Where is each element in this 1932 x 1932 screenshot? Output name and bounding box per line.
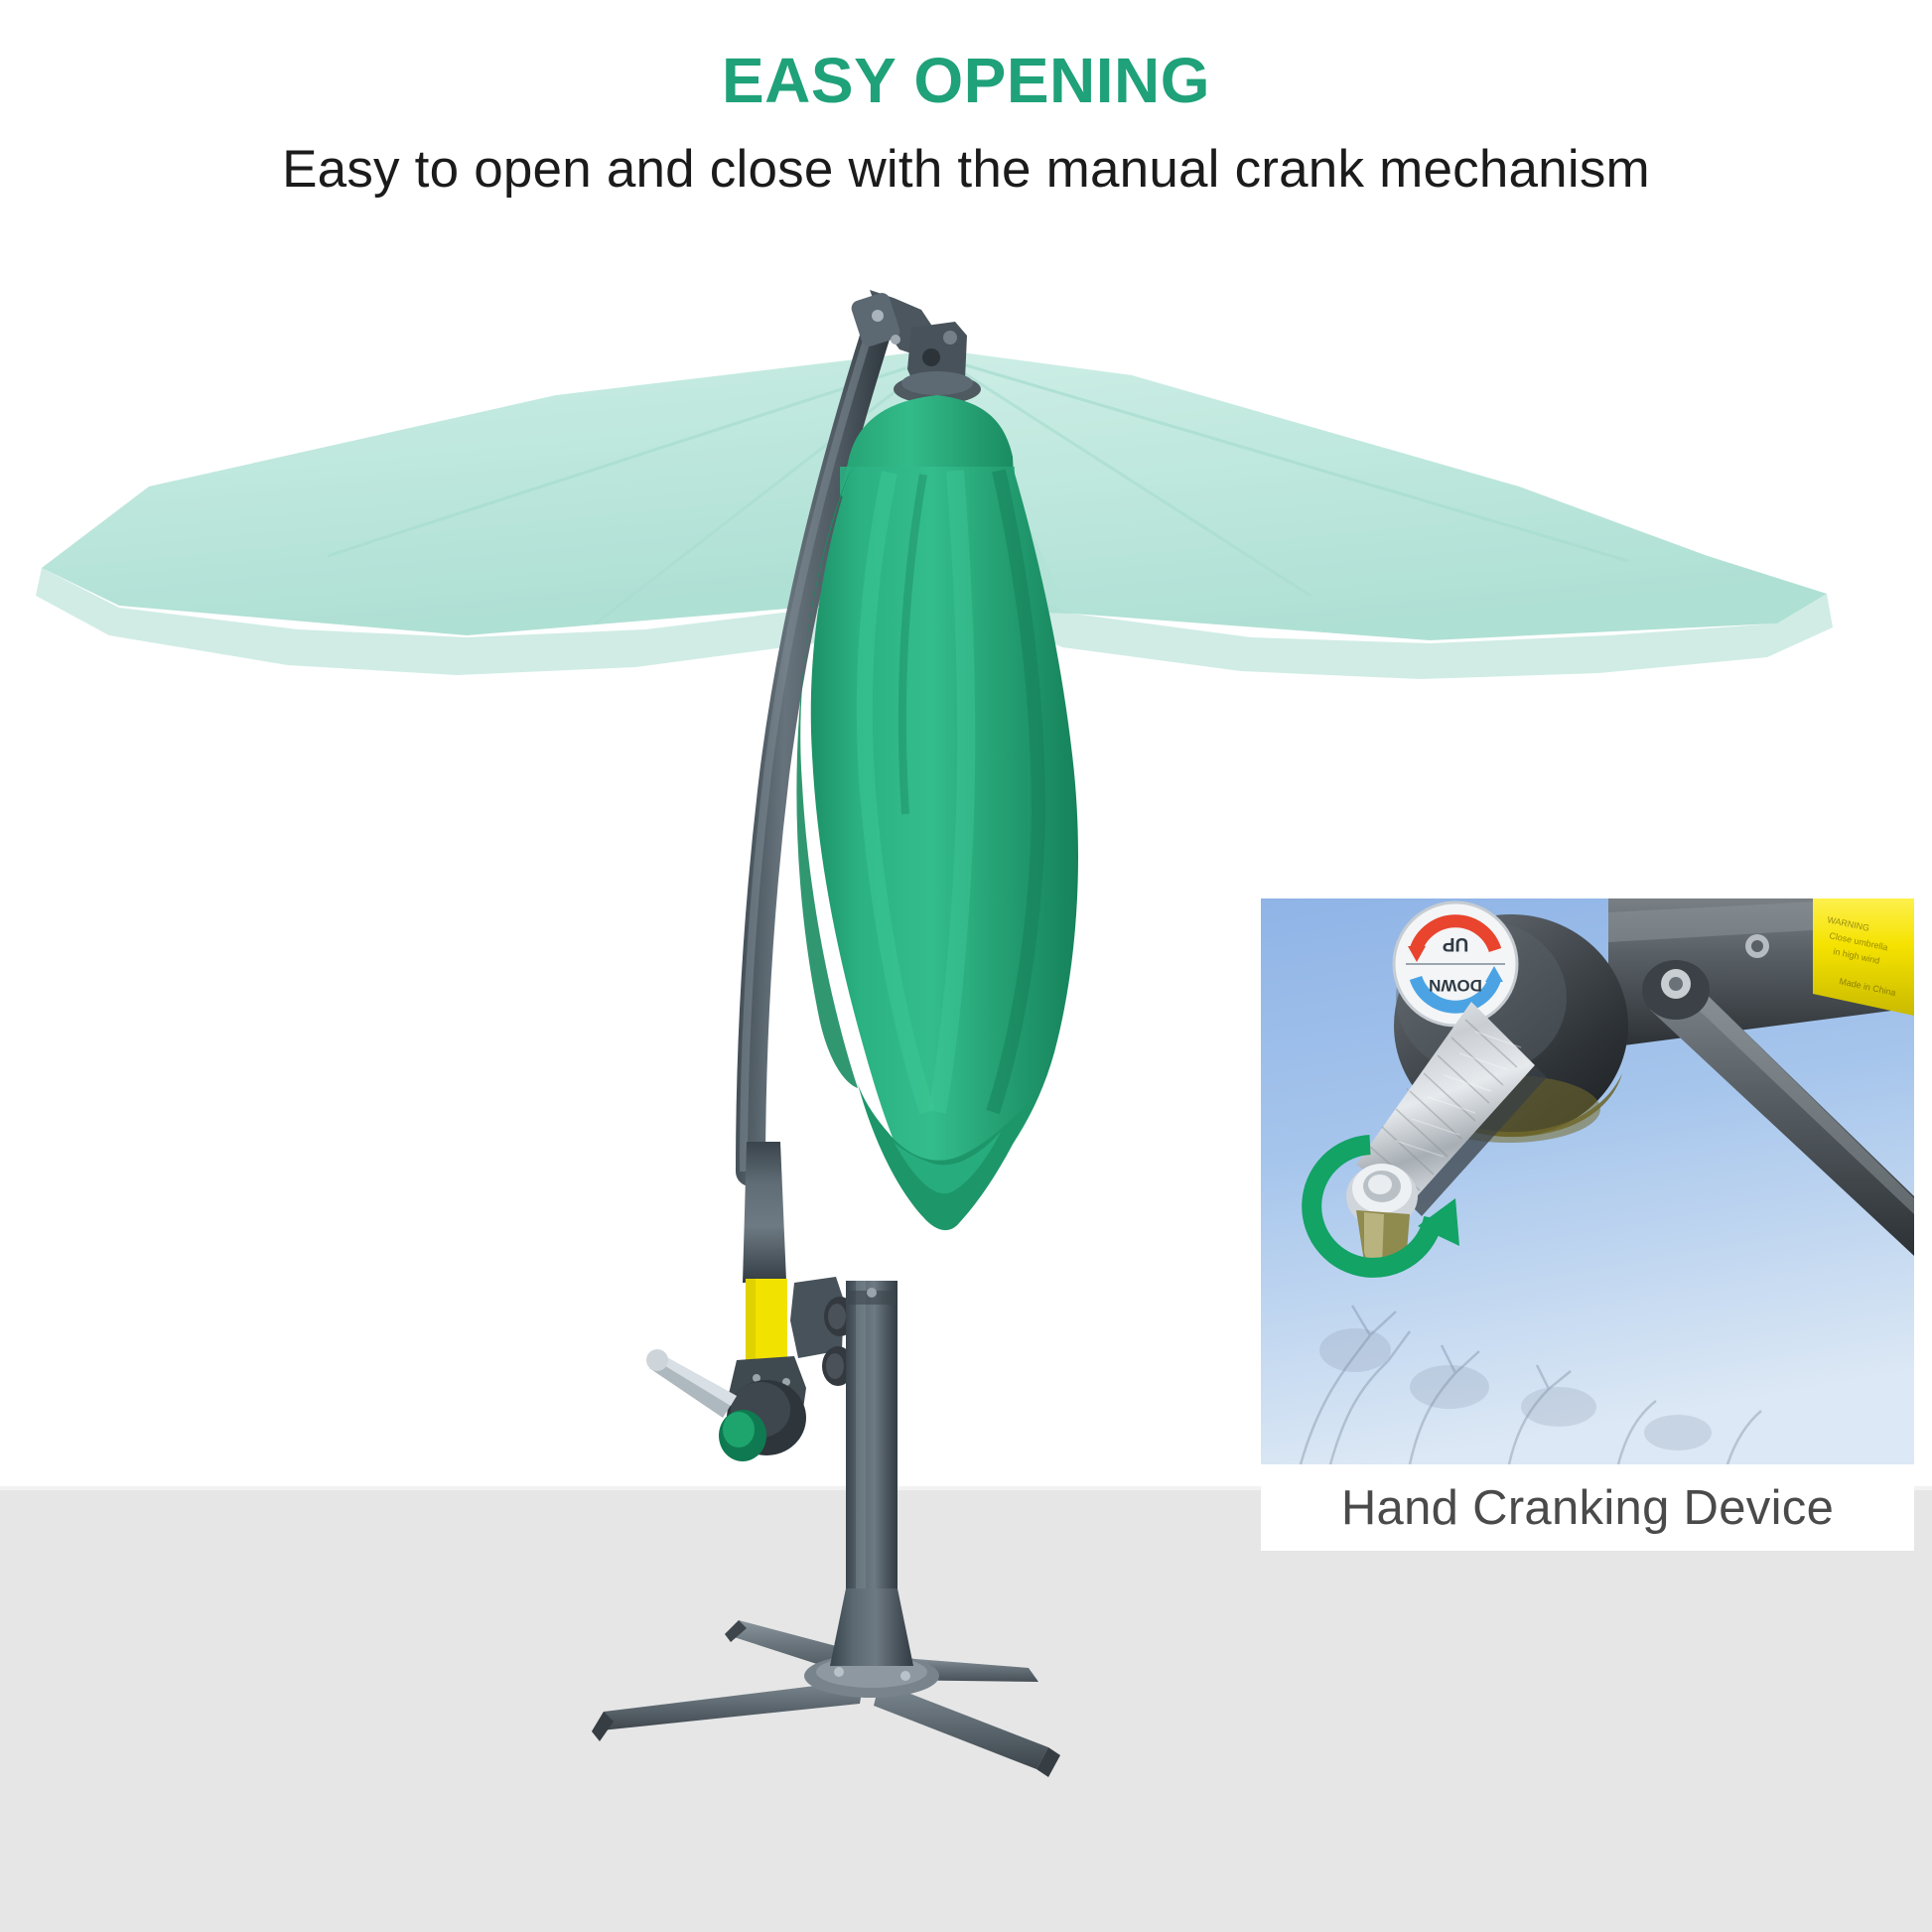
product-marketing-image: EASY OPENING Easy to open and close with… — [0, 0, 1932, 1932]
dial-label-down: DOWN — [1429, 976, 1482, 995]
callout-caption-box: Hand Cranking Device — [1261, 1465, 1914, 1551]
callout-caption-text: Hand Cranking Device — [1341, 1480, 1834, 1536]
umbrella-cross-base — [592, 1588, 1060, 1777]
callout-leader-line — [755, 1142, 1311, 1509]
dial-label-up: UP — [1442, 933, 1468, 954]
up-down-dial-sticker: DOWN UP — [1394, 902, 1517, 1026]
hand-cranking-device-photo: WARNING Close umbrella in high wind Made… — [1261, 898, 1914, 1464]
